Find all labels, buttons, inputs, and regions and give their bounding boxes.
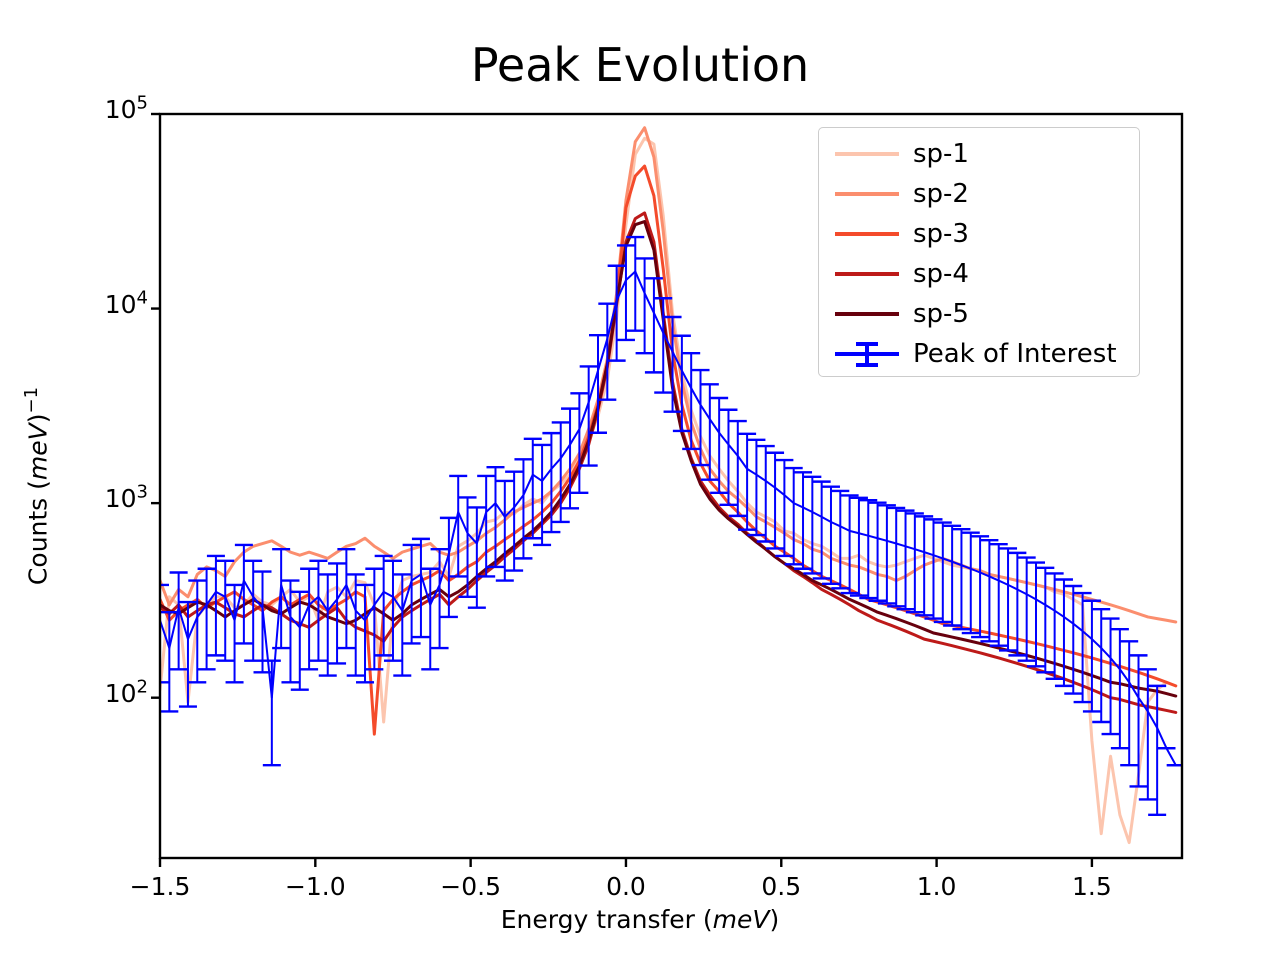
legend-label: Peak of Interest	[913, 339, 1117, 369]
legend-item-sp-2[interactable]: sp-2	[819, 174, 1139, 214]
legend-swatch-icon	[835, 301, 899, 327]
legend-item-sp-4[interactable]: sp-4	[819, 254, 1139, 294]
legend-swatch-icon	[835, 261, 899, 287]
x-axis-label: Energy transfer (meV)	[0, 905, 1280, 934]
legend-item-Peak of Interest[interactable]: Peak of Interest	[819, 334, 1139, 374]
legend-label: sp-4	[913, 259, 969, 289]
legend-swatch-icon	[835, 141, 899, 167]
legend-swatch-icon	[835, 341, 899, 367]
y-axis-label-suffix: )	[24, 413, 53, 423]
legend[interactable]: sp-1sp-2sp-3sp-4sp-5Peak of Interest	[818, 127, 1140, 377]
y-tick-label-2: 104	[20, 290, 148, 319]
x-tick-label-0: −1.5	[90, 872, 230, 901]
legend-item-sp-5[interactable]: sp-5	[819, 294, 1139, 334]
legend-label: sp-1	[913, 139, 969, 169]
x-tick-label-2: −0.5	[401, 872, 541, 901]
y-tick-label-1: 103	[20, 484, 148, 513]
legend-item-sp-1[interactable]: sp-1	[819, 134, 1139, 174]
y-tick-label-3: 105	[20, 95, 148, 124]
legend-item-sp-3[interactable]: sp-3	[819, 214, 1139, 254]
x-axis-label-suffix: )	[769, 905, 779, 934]
x-axis-label-prefix: Energy transfer (	[501, 905, 713, 934]
y-axis-label-units: meV	[24, 423, 53, 480]
legend-label: sp-5	[913, 299, 969, 329]
legend-swatch-icon	[835, 221, 899, 247]
x-tick-label-1: −1.0	[245, 872, 385, 901]
figure-canvas: Peak Evolution Energy transfer (meV) Cou…	[0, 0, 1280, 960]
legend-label: sp-2	[913, 179, 969, 209]
page-title: Peak Evolution	[0, 38, 1280, 92]
legend-swatch-icon	[835, 181, 899, 207]
legend-label: sp-3	[913, 219, 969, 249]
x-tick-label-6: 1.5	[1022, 872, 1162, 901]
x-tick-label-5: 1.0	[867, 872, 1007, 901]
x-tick-label-3: 0.0	[556, 872, 696, 901]
y-axis-label-exponent: −1	[21, 387, 42, 414]
x-axis-label-units: meV	[713, 905, 770, 934]
y-tick-label-0: 102	[20, 679, 148, 708]
x-tick-label-4: 0.5	[711, 872, 851, 901]
